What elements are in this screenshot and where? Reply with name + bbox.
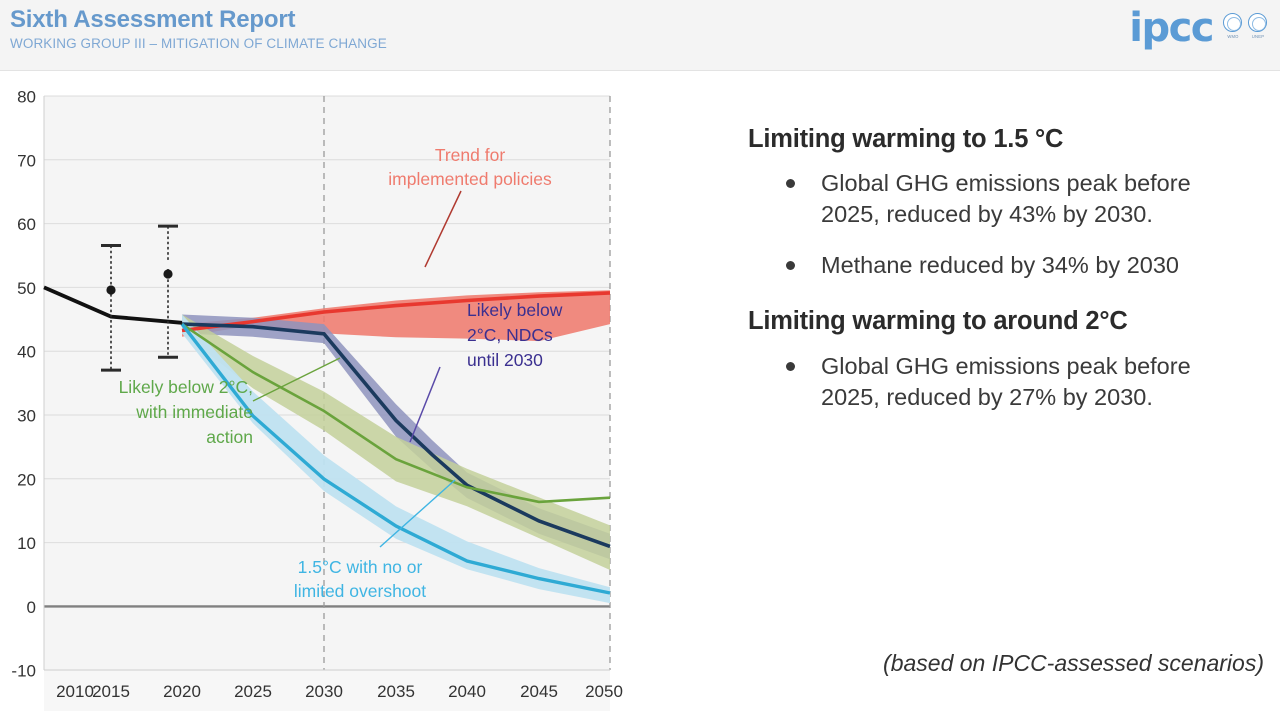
x-tick-2030: 2030: [305, 682, 343, 701]
y-tick-10: 10: [17, 534, 36, 553]
y-tick-40: 40: [17, 343, 36, 362]
partner-emblems: WMO UNEP: [1223, 13, 1268, 43]
y-tick-20: 20: [17, 470, 36, 489]
x-tick-2050: 2050: [585, 682, 623, 701]
annotation-line: Trend for: [435, 145, 506, 165]
list-item: Global GHG emissions peak before 2025, r…: [748, 168, 1264, 230]
unep-emblem-icon: UNEP: [1248, 13, 1268, 39]
x-tick-2045: 2045: [520, 682, 558, 701]
annotation-line: Likely below 2°C,: [119, 377, 253, 397]
y-tick-minus10: -10: [11, 662, 36, 681]
bullet-list-1-5c: Global GHG emissions peak before 2025, r…: [748, 168, 1264, 281]
page-subtitle: WORKING GROUP III – MITIGATION OF CLIMAT…: [10, 36, 387, 51]
source-footnote: (based on IPCC-assessed scenarios): [748, 650, 1264, 677]
page-title: Sixth Assessment Report: [10, 6, 295, 34]
wmo-emblem-icon: WMO: [1223, 13, 1243, 39]
annotation-line: limited overshoot: [294, 581, 426, 601]
y-tick-70: 70: [17, 151, 36, 170]
annotation-line: implemented policies: [388, 169, 552, 189]
key-findings-panel: Limiting warming to 1.5 °C Global GHG em…: [748, 125, 1264, 695]
page-header: Sixth Assessment Report WORKING GROUP II…: [0, 0, 1280, 71]
y-axis-tick-labels: 80 70 60 50 40 30 20 10 0 -10: [11, 88, 36, 681]
ipcc-logo: ipcc WMO UNEP: [1129, 8, 1268, 48]
annotation-line: with immediate: [135, 402, 253, 422]
bullet-text: Methane reduced by 34% by 2030: [821, 250, 1179, 281]
x-tick-2040: 2040: [448, 682, 486, 701]
y-tick-80: 80: [17, 88, 36, 107]
list-item: Methane reduced by 34% by 2030: [748, 250, 1264, 281]
x-tick-2010: 2010: [56, 682, 94, 701]
y-tick-30: 30: [17, 407, 36, 426]
chart-svg: 80 70 60 50 40 30 20 10 0 -10 2010 2015 …: [0, 71, 660, 711]
bullet-dot-icon: [786, 362, 795, 371]
y-tick-60: 60: [17, 215, 36, 234]
x-tick-2025: 2025: [234, 682, 272, 701]
x-tick-2035: 2035: [377, 682, 415, 701]
bullet-dot-icon: [786, 261, 795, 270]
list-item: Global GHG emissions peak before 2025, r…: [748, 351, 1264, 413]
section-heading-2c: Limiting warming to around 2°C: [748, 307, 1264, 336]
x-tick-2020: 2020: [163, 682, 201, 701]
bullet-text: Global GHG emissions peak before 2025, r…: [821, 168, 1225, 230]
wmo-emblem-label: WMO: [1223, 34, 1243, 39]
annotation-line: until 2030: [467, 350, 543, 370]
slide-root: Sixth Assessment Report WORKING GROUP II…: [0, 0, 1280, 711]
annotation-line: 1.5°C with no or: [298, 557, 423, 577]
section-heading-1-5c: Limiting warming to 1.5 °C: [748, 125, 1264, 154]
bullet-list-2c: Global GHG emissions peak before 2025, r…: [748, 351, 1264, 413]
y-tick-50: 50: [17, 279, 36, 298]
unep-emblem-label: UNEP: [1248, 34, 1268, 39]
bullet-text: Global GHG emissions peak before 2025, r…: [821, 351, 1225, 413]
bullet-dot-icon: [786, 179, 795, 188]
annotation-line: action: [206, 427, 253, 447]
annotation-line: 2°C, NDCs: [467, 325, 553, 345]
ipcc-wordmark: ipcc: [1129, 8, 1213, 48]
annotation-line: Likely below: [467, 300, 563, 320]
y-tick-0: 0: [27, 598, 36, 617]
x-tick-2015: 2015: [92, 682, 130, 701]
emissions-scenarios-chart: 80 70 60 50 40 30 20 10 0 -10 2010 2015 …: [0, 71, 660, 711]
